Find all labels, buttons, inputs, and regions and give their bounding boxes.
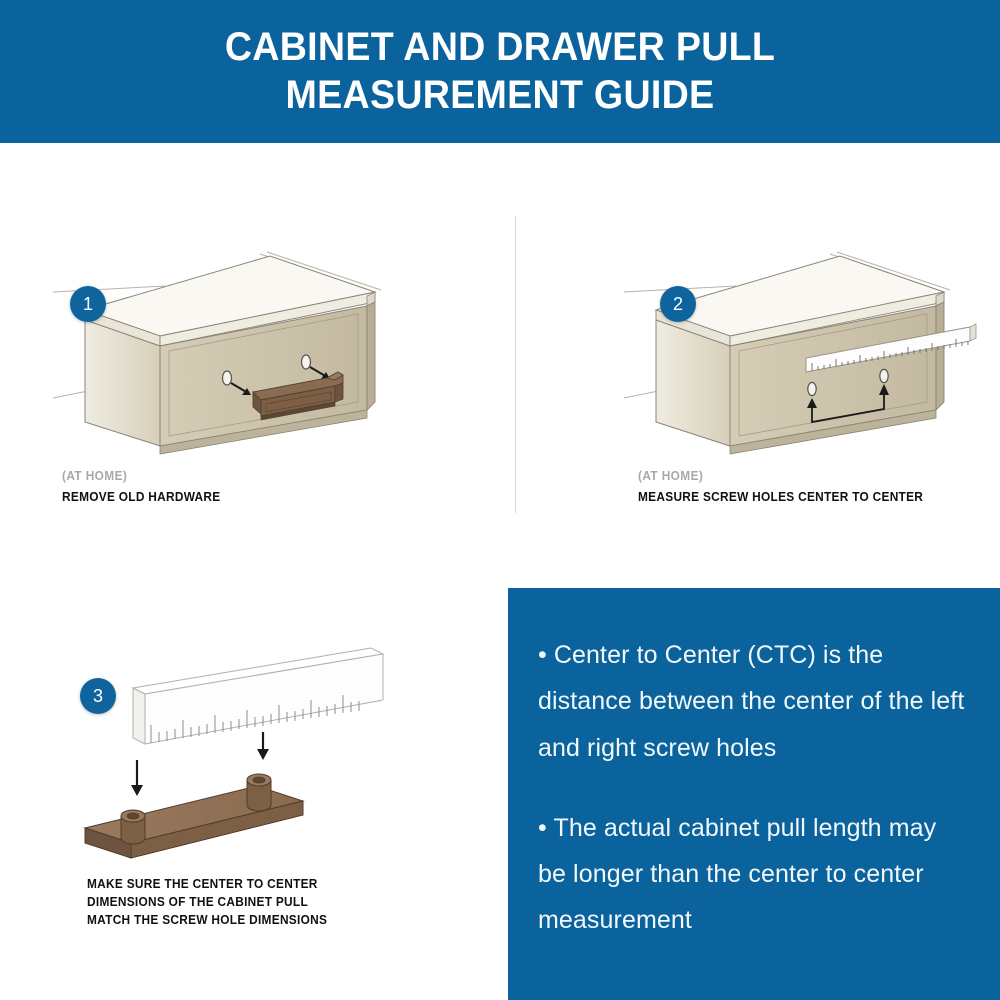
step-caption-2: MEASURE SCREW HOLES CENTER TO CENTER	[638, 488, 923, 506]
floating-ruler	[133, 648, 383, 744]
page-header: CABINET AND DRAWER PULL MEASUREMENT GUID…	[0, 0, 1000, 143]
info-box: • Center to Center (CTC) is the distance…	[508, 588, 1000, 1000]
step-eyebrow-1: (AT HOME)	[62, 468, 127, 485]
arrow-down-right	[257, 732, 269, 760]
step-badge-number: 1	[83, 294, 93, 315]
info-bullet-1: • Center to Center (CTC) is the distance…	[538, 632, 970, 771]
ruler-over-cabinet-pull-illustration	[45, 640, 465, 870]
step-panel-3: 3 MAKE SURE THE CENTER TO CENTER DIMENSI…	[45, 640, 485, 950]
step-caption-1: REMOVE OLD HARDWARE	[62, 488, 220, 506]
step-caption-3-line-1: MAKE SURE THE CENTER TO CENTER	[87, 875, 318, 893]
pull-boss-right	[247, 774, 271, 811]
step-badge-2: 2	[660, 286, 696, 322]
step-badge-number: 3	[93, 686, 103, 707]
info-bullet-2: • The actual cabinet pull length may be …	[538, 805, 970, 944]
step-badge-1: 1	[70, 286, 106, 322]
step-caption-3-line-3: MATCH THE SCREW HOLE DIMENSIONS	[87, 911, 327, 929]
panel-divider-vertical	[515, 216, 516, 513]
page-title: CABINET AND DRAWER PULL MEASUREMENT GUID…	[143, 24, 857, 118]
measurement-guide-page: CABINET AND DRAWER PULL MEASUREMENT GUID…	[0, 0, 1000, 1000]
pull-boss-left	[121, 810, 145, 844]
arrow-down-left	[131, 760, 143, 796]
cabinet-drawer-with-ruler-illustration	[618, 250, 1000, 465]
step-panel-1: 1 (AT HOME) REMOVE OLD HARDWARE	[45, 250, 485, 510]
step-panel-2: 2 (AT HOME) MEASURE SCREW HOLES CENTER T…	[618, 250, 1000, 510]
step-badge-3: 3	[80, 678, 116, 714]
step-badge-number: 2	[673, 294, 683, 315]
step-eyebrow-2: (AT HOME)	[638, 468, 703, 485]
step-caption-3-line-2: DIMENSIONS OF THE CABINET PULL	[87, 893, 308, 911]
cabinet-drawer-with-pull-illustration	[45, 250, 445, 465]
